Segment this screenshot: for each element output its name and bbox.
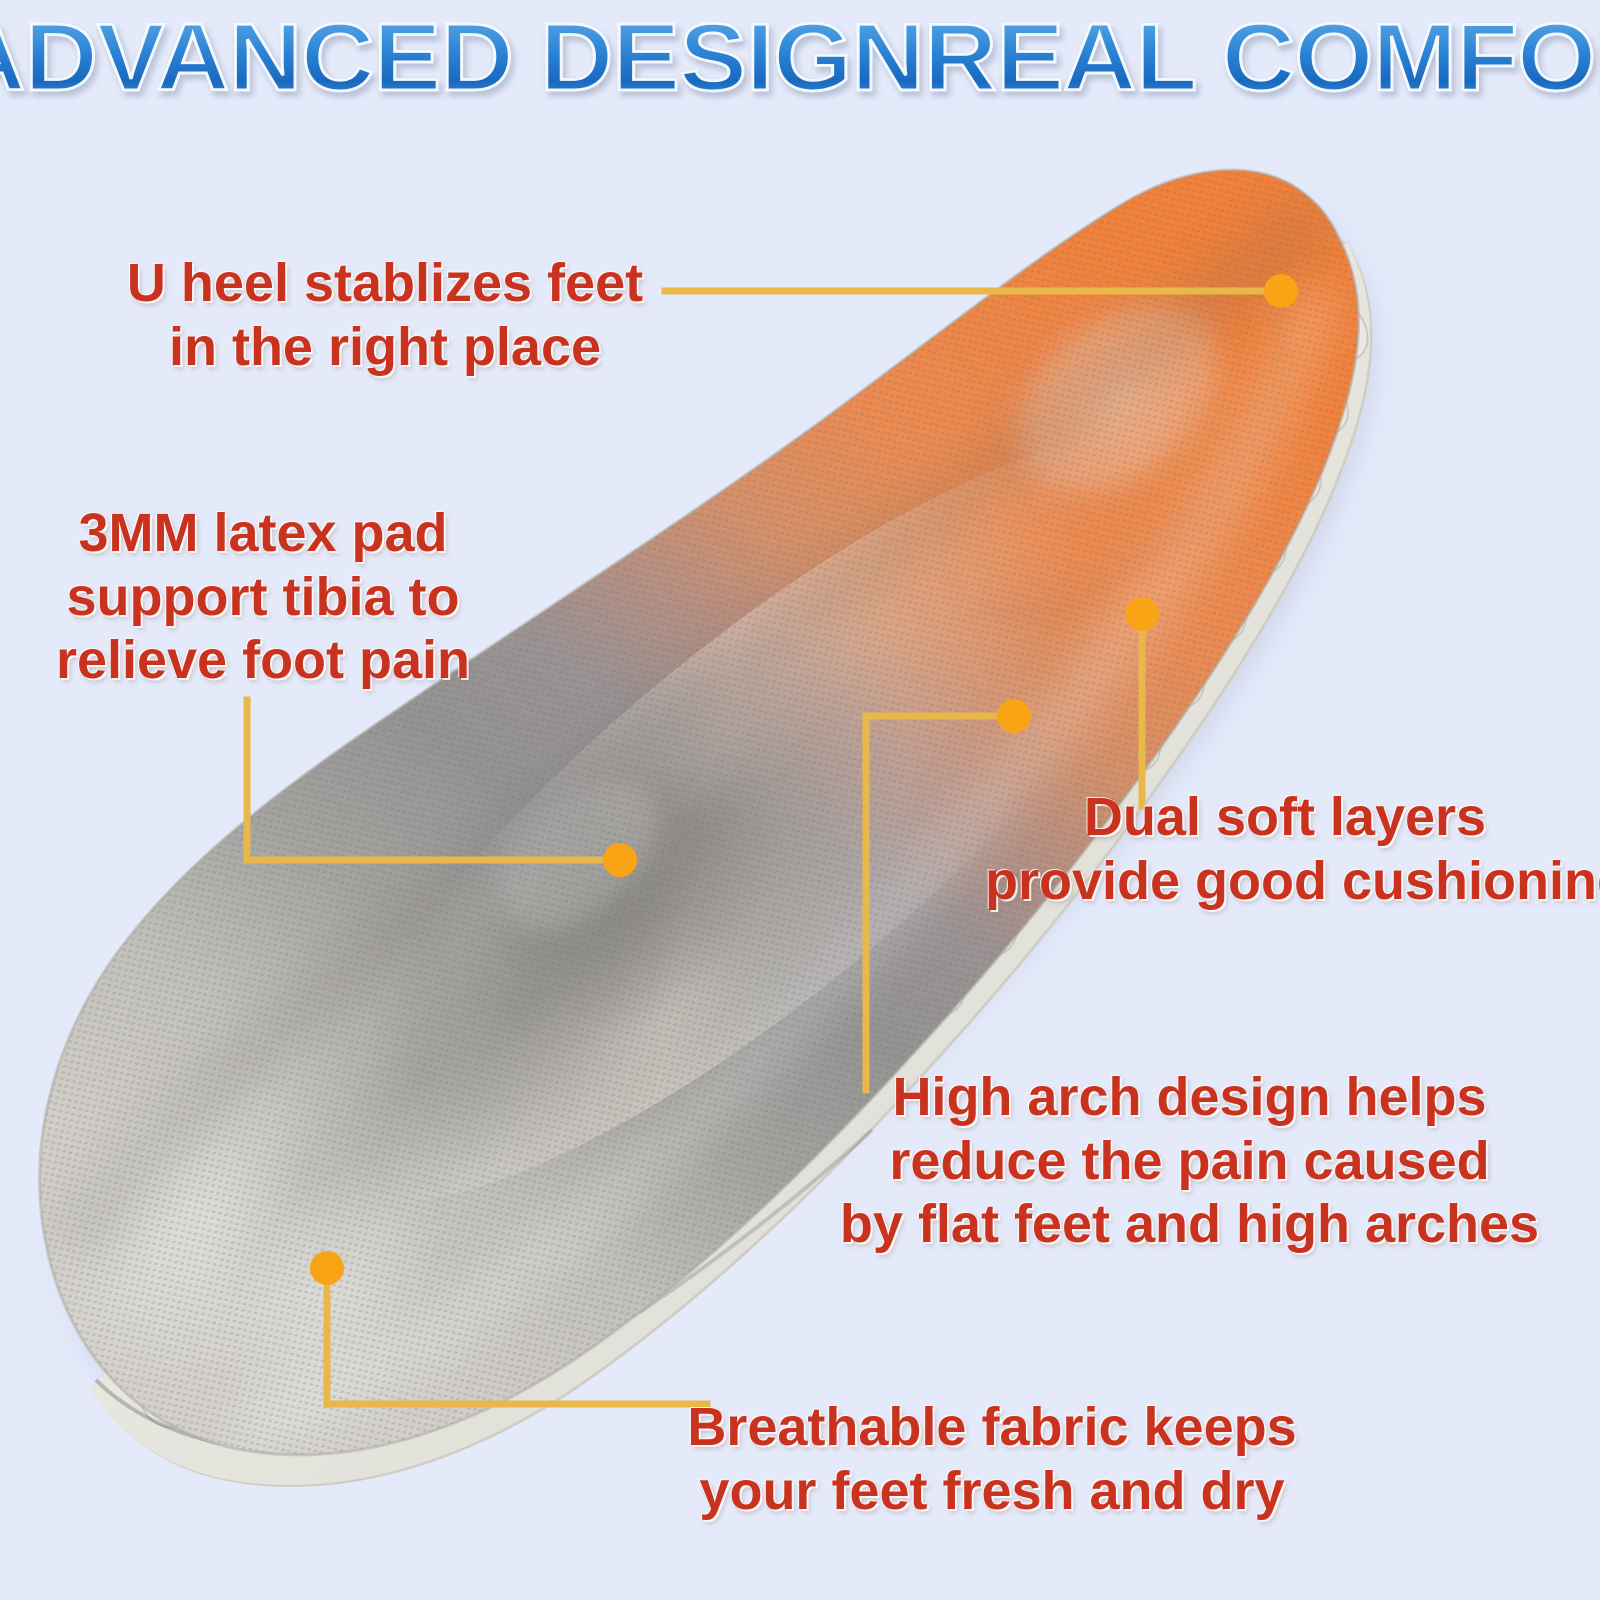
callout-dual-layers-line-2: provide good cushioning: [985, 850, 1585, 914]
callout-dual-layers: Dual soft layers provide good cushioning: [985, 786, 1585, 913]
callout-high-arch-line-2: reduce the pain caused: [792, 1130, 1587, 1194]
callout-latex-pad-line-2: support tibia to: [48, 566, 478, 630]
callout-breathable-line-1: Breathable fabric keeps: [672, 1396, 1312, 1460]
infographic-canvas: ADVANCED DESIGNREAL COMFORT U heel stabl…: [0, 0, 1600, 1600]
callout-u-heel-line-1: U heel stablizes feet: [105, 252, 665, 316]
callout-u-heel: U heel stablizes feet in the right place: [105, 252, 665, 379]
callout-u-heel-line-2: in the right place: [105, 316, 665, 380]
callout-breathable-line-2: your feet fresh and dry: [672, 1460, 1312, 1524]
callout-breathable: Breathable fabric keeps your feet fresh …: [672, 1396, 1312, 1523]
callout-latex-pad: 3MM latex pad support tibia to relieve f…: [48, 502, 478, 693]
page-title: ADVANCED DESIGNREAL COMFORT: [0, 8, 1600, 109]
callout-dual-layers-line-1: Dual soft layers: [985, 786, 1585, 850]
callout-high-arch-line-1: High arch design helps: [792, 1066, 1587, 1130]
callout-high-arch-line-3: by flat feet and high arches: [792, 1193, 1587, 1257]
callout-high-arch: High arch design helps reduce the pain c…: [792, 1066, 1587, 1257]
callout-latex-pad-line-3: relieve foot pain: [48, 629, 478, 693]
callout-latex-pad-line-1: 3MM latex pad: [48, 502, 478, 566]
